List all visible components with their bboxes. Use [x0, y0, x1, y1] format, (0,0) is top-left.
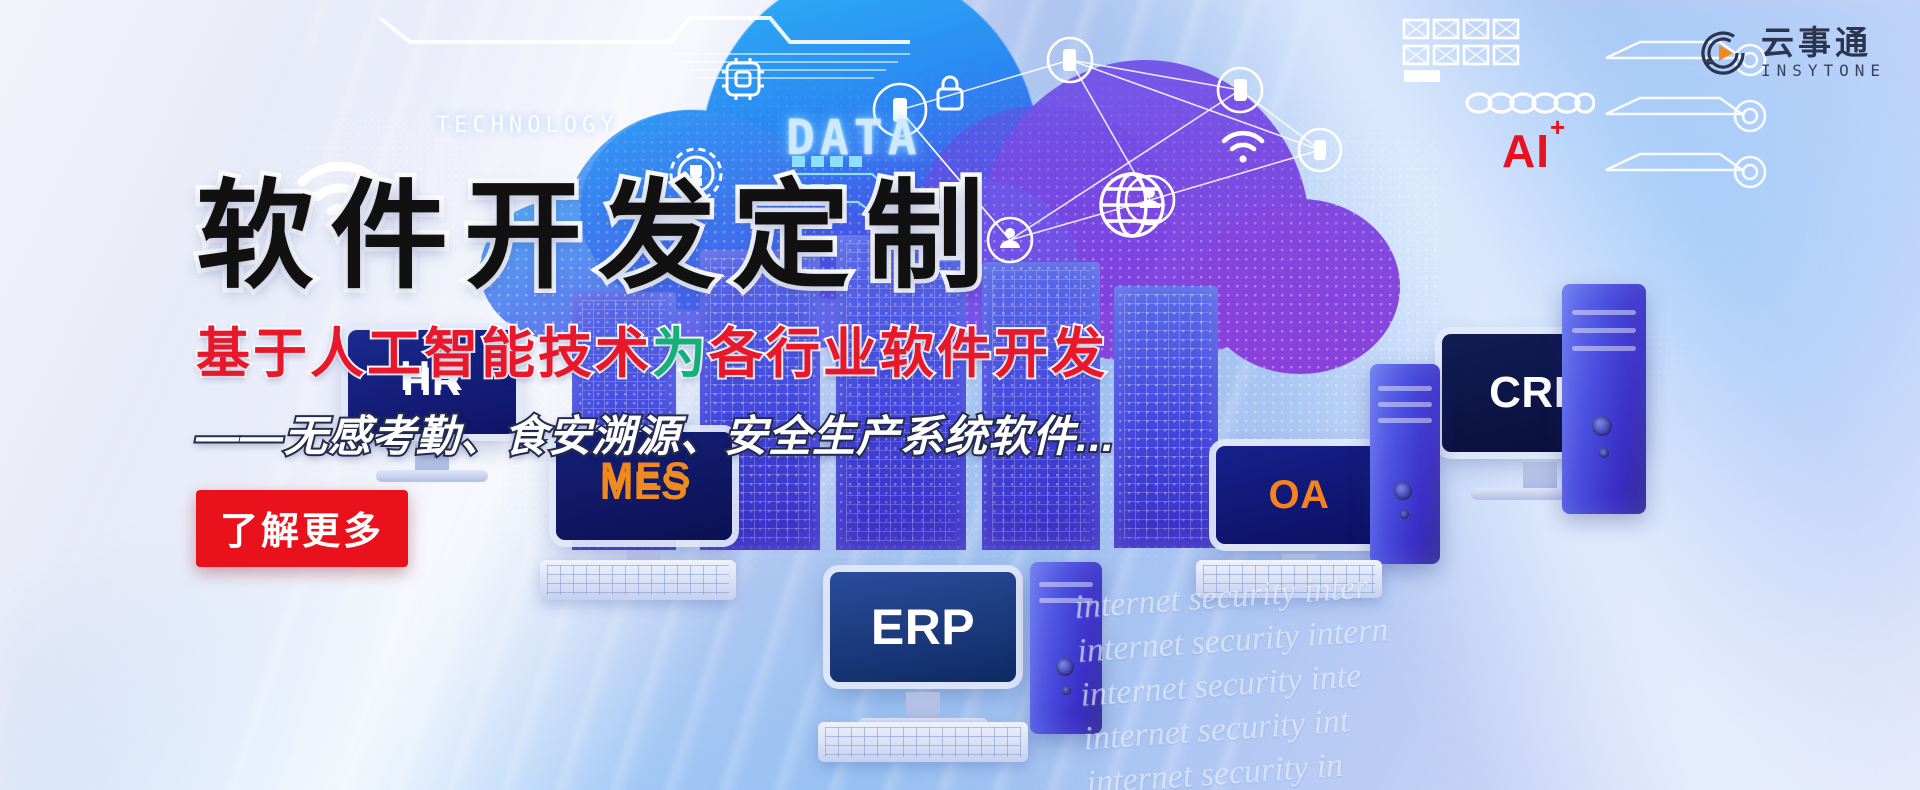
lock-icon — [930, 70, 970, 116]
brand-name-cn: 云事通 — [1761, 26, 1886, 59]
hero-copy-block: 软件开发定制 基于人工智能技术为各行业软件开发 ——无感考勤、食安溯源、安全生产… — [196, 176, 1256, 567]
wifi-small-icon — [1220, 126, 1266, 166]
subline-part2: 各行业软件开发 — [709, 324, 1108, 384]
hud-chain-decoration — [1465, 86, 1595, 120]
erp-monitor: ERP — [830, 572, 1016, 730]
learn-more-button[interactable]: 了解更多 — [196, 490, 408, 567]
brand-wordmark: 云事通 INSYTONE — [1761, 26, 1886, 79]
keyboard-center — [818, 722, 1028, 762]
tagline: ——无感考勤、食安溯源、安全生产系统软件... — [196, 402, 1256, 464]
hero-banner: HR MES CRM OA ERP interne — [0, 0, 1920, 790]
ai-text: AI — [1502, 125, 1550, 177]
brand-logo[interactable]: 云事通 INSYTONE — [1697, 26, 1886, 79]
ai-plus-sup: + — [1550, 112, 1566, 142]
technology-label: TECHNOLOGY — [436, 113, 618, 138]
headline: 软件开发定制 — [196, 176, 1256, 299]
pc-tower-center — [1030, 562, 1102, 734]
subline-highlight: 为 — [652, 324, 709, 384]
subline: 基于人工智能技术为各行业软件开发 — [196, 309, 1256, 388]
subline-part1: 基于人工智能技术 — [196, 324, 652, 384]
data-label: DATA — [786, 110, 922, 166]
erp-monitor-label: ERP — [830, 572, 1016, 682]
insytone-circle-play-icon — [1697, 27, 1749, 79]
pc-tower-right — [1562, 284, 1646, 514]
hud-grid-decoration — [1400, 14, 1530, 94]
brand-name-en: INSYTONE — [1761, 63, 1886, 79]
ai-plus-label: AI+ — [1502, 124, 1566, 178]
hud-topbar-decoration — [370, 2, 930, 82]
pc-tower-left — [1370, 364, 1440, 564]
